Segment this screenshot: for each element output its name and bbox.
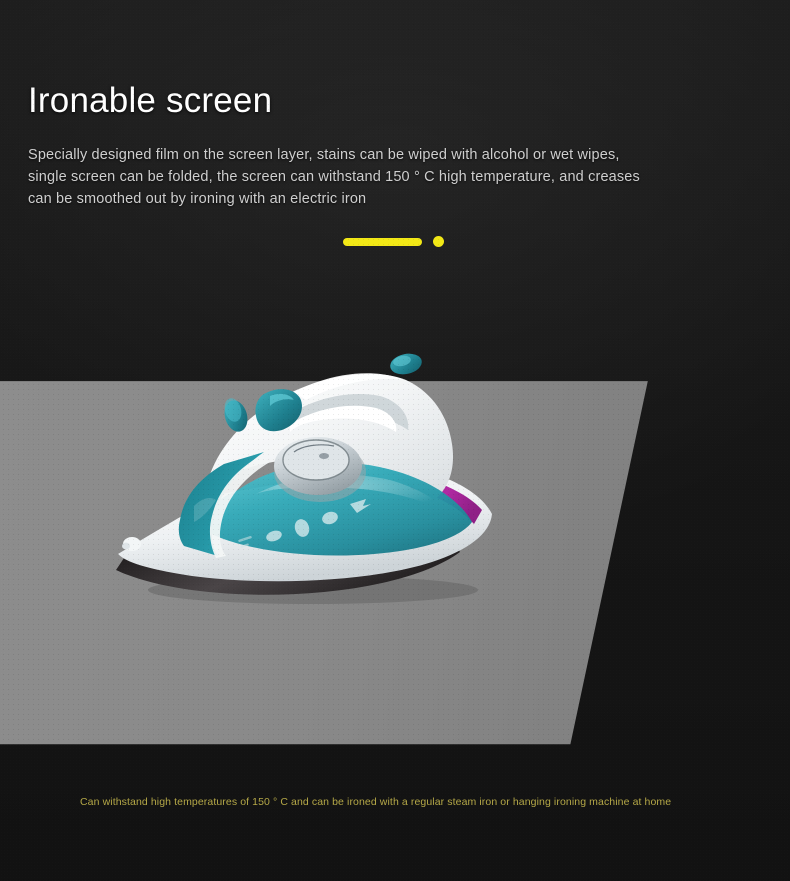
- page-title: Ironable screen: [28, 80, 272, 122]
- steam-iron-photo: [88, 338, 558, 638]
- photo-caption: Can withstand high temperatures of 150 °…: [80, 795, 680, 810]
- divider-dot-icon: [433, 236, 444, 247]
- divider-bar-icon: [343, 238, 422, 246]
- product-detail-page: Ironable screen Specially designed film …: [0, 0, 790, 881]
- section-divider: [343, 236, 444, 247]
- product-photo-band: [0, 370, 790, 755]
- page-description: Specially designed film on the screen la…: [28, 144, 642, 210]
